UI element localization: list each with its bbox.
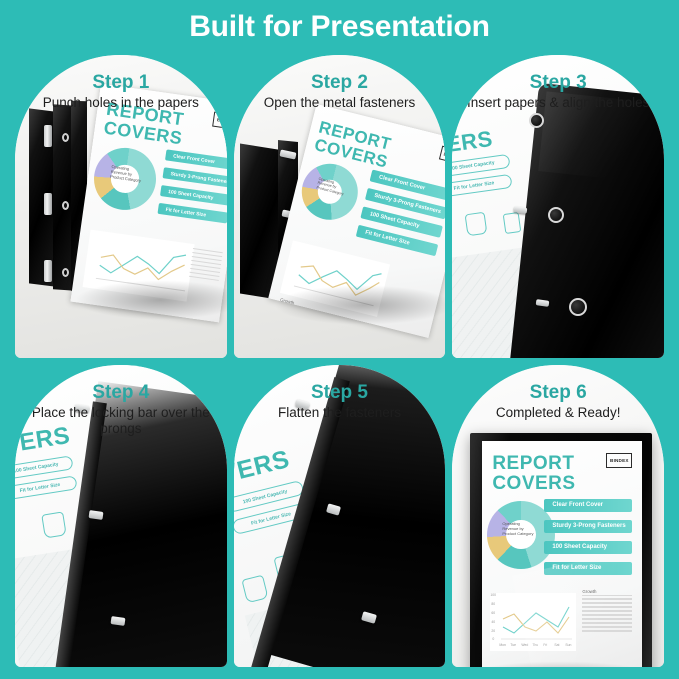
step-card-3[interactable]: ERS 100 Sheet Capacity Fit for Letter Si… <box>452 55 664 358</box>
step-card-4[interactable]: VERS 100 Sheet Capacity Fit for Letter S… <box>15 365 227 668</box>
document-icon <box>503 212 522 234</box>
feature-pill-3: 100 Sheet Capacity <box>544 541 632 554</box>
feature-outline-4: Fit for Letter Size <box>452 174 513 198</box>
shield-icon <box>41 511 66 538</box>
chart-y-tick-5: 0 <box>492 637 494 641</box>
feature-pill-1: Clear Front Cover <box>544 499 632 512</box>
page-title: Built for Presentation <box>0 8 679 46</box>
step-1-photo: REPORT COVERS BINDEX Operating Revenue b… <box>15 55 227 358</box>
brand-logo: BINDEX <box>212 112 227 130</box>
chart-y-tick-4: 20 <box>491 629 495 633</box>
prong-tip-middle <box>89 510 104 520</box>
document-shadow <box>75 280 227 320</box>
prong-tip-bottom <box>111 616 126 626</box>
paper-word-fragment: ERS <box>452 126 494 158</box>
infographic-page: Built for Presentation REP <box>0 0 679 679</box>
feature-pill-2: Sturdy 3-Prong Fasteners <box>544 520 632 533</box>
step-6-photo: REPORT COVERS BINDEX Operating Revenue b… <box>452 365 664 668</box>
punch-hole-top <box>62 133 69 142</box>
prong-tip-top <box>75 404 90 413</box>
paper-word-fragment: VERS <box>234 444 293 489</box>
punch-hole-middle <box>62 201 69 210</box>
report-cover-document: REPORT COVERS BINDEX Operating Revenue b… <box>482 441 642 667</box>
cover-shadow <box>460 661 660 668</box>
prong-fastener-bottom <box>44 260 52 282</box>
paper-word-fragment: VERS <box>15 421 72 459</box>
stack-icon <box>241 574 268 603</box>
chart-y-tick-1: 80 <box>491 602 495 606</box>
brand-logo: BINDEX <box>606 453 632 468</box>
step-5-photo: VERS 100 Sheet Capacity Fit for Letter S… <box>234 365 446 668</box>
steps-grid: REPORT COVERS BINDEX Operating Revenue b… <box>15 55 664 667</box>
step-card-1[interactable]: REPORT COVERS BINDEX Operating Revenue b… <box>15 55 227 358</box>
chart-note-block <box>189 248 223 284</box>
step-card-5[interactable]: VERS 100 Sheet Capacity Fit for Letter S… <box>234 365 446 668</box>
donut-caption: Operating Revenue by Product Category <box>502 521 534 536</box>
feature-pill-2: Sturdy 3-Prong Fasteners <box>162 167 226 188</box>
brand-logo: BINDEX <box>439 146 446 166</box>
step-3-photo: ERS 100 Sheet Capacity Fit for Letter Si… <box>452 55 664 358</box>
report-title-line2: COVERS <box>492 473 575 495</box>
chart-y-tick-3: 40 <box>491 620 495 624</box>
feature-pill-1: Clear Front Cover <box>165 149 227 170</box>
prong-fastener-top <box>44 125 52 147</box>
chart-y-tick-0: 100 <box>490 593 496 597</box>
step-2-photo: REPORT COVERS BINDEX Operating Revenue b… <box>234 55 446 358</box>
chart-x-tick-0: Mon <box>499 643 506 647</box>
feature-pill-3: 100 Sheet Capacity <box>160 185 227 206</box>
report-title-line1: REPORT <box>492 453 574 475</box>
punch-hole-bottom <box>62 268 69 277</box>
step-card-6[interactable]: REPORT COVERS BINDEX Operating Revenue b… <box>452 365 664 668</box>
chart-x-tick-1: Tue <box>510 643 516 647</box>
document-shadow <box>274 285 446 325</box>
step-4-photo: VERS 100 Sheet Capacity Fit for Letter S… <box>15 365 227 668</box>
prong-fastener-middle <box>44 193 52 215</box>
shield-icon <box>465 212 488 237</box>
feature-pill-4: Fit for Letter Size <box>157 203 226 224</box>
step-card-2[interactable]: REPORT COVERS BINDEX Operating Revenue b… <box>234 55 446 358</box>
feature-outline-4: Fit for Letter Size <box>15 475 78 500</box>
cover-glare <box>539 91 664 186</box>
chart-y-tick-2: 60 <box>491 611 495 615</box>
